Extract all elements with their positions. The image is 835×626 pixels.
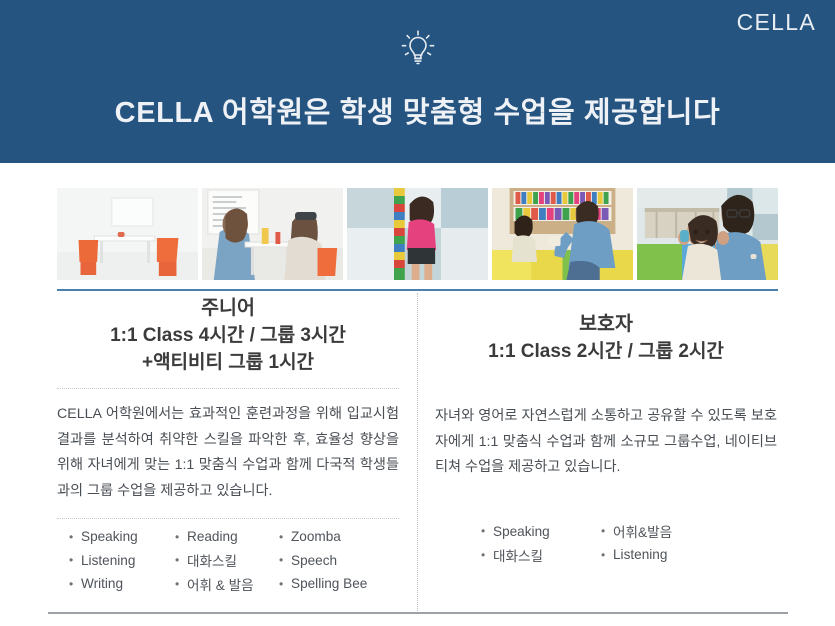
divider-dotted-junior-bottom xyxy=(57,518,399,519)
photo-teacher-toddler-library xyxy=(492,188,633,280)
list-item: • 대화스킬 xyxy=(175,549,279,573)
page-title: CELLA 어학원은 학생 맞춤형 수업을 제공합니다 xyxy=(0,89,835,131)
list-item-label: Spelling Bee xyxy=(291,576,367,591)
column-guardian-description: 자녀와 영어로 자연스럽게 소통하고 공유할 수 있도록 보호자에게 1:1 맞… xyxy=(435,404,777,481)
bullet-group-3: • Zoomba • Speech • Spelling Bee xyxy=(279,525,367,596)
bullet-marker-icon: • xyxy=(601,549,613,561)
bullet-marker-icon: • xyxy=(601,525,613,537)
bullet-marker-icon: • xyxy=(69,531,81,543)
bullet-marker-icon: • xyxy=(279,531,291,543)
list-item: • 어휘 & 발음 xyxy=(175,572,279,596)
photo-empty-classroom xyxy=(57,188,198,280)
column-junior-bullets: • Speaking • Listening • Writing • Readi… xyxy=(57,525,399,596)
bullet-marker-icon: • xyxy=(69,578,81,590)
divider-dotted-junior-top xyxy=(57,388,399,389)
list-item-label: Listening xyxy=(81,553,135,568)
list-item-label: Speech xyxy=(291,553,337,568)
column-guardian-title: 보호자 xyxy=(435,311,777,338)
list-item: • Zoomba xyxy=(279,525,367,549)
list-item: • Listening xyxy=(69,549,175,573)
list-item: • Speaking xyxy=(481,520,601,544)
list-item-label: Listening xyxy=(613,547,667,562)
bullet-group-1: • Speaking • Listening • Writing xyxy=(69,525,175,596)
bullet-marker-icon: • xyxy=(279,554,291,566)
list-item: • Listening xyxy=(601,543,672,567)
bullet-marker-icon: • xyxy=(175,554,187,566)
list-item: • 대화스킬 xyxy=(481,543,601,567)
bullet-group-2: • Reading • 대화스킬 • 어휘 & 발음 xyxy=(175,525,279,596)
list-item: • 어휘&발음 xyxy=(601,520,672,544)
list-item: • Writing xyxy=(69,572,175,596)
bullet-group-1: • Speaking • 대화스킬 xyxy=(481,520,601,567)
bullet-marker-icon: • xyxy=(481,549,493,561)
bullet-marker-icon: • xyxy=(481,525,493,537)
photo-strip xyxy=(57,188,778,280)
list-item-label: 대화스킬 xyxy=(187,550,237,570)
list-item: • Reading xyxy=(175,525,279,549)
list-item: • Spelling Bee xyxy=(279,572,367,596)
column-guardian-heading: 보호자 1:1 Class 2시간 / 그룹 2시간 xyxy=(435,295,777,365)
list-item-label: 어휘 & 발음 xyxy=(187,574,254,594)
bullet-marker-icon: • xyxy=(279,578,291,590)
column-junior-subtitle-1: 1:1 Class 4시간 / 그룹 3시간 xyxy=(57,322,399,349)
photo-teacher-student-desk xyxy=(202,188,343,280)
divider-blue-top xyxy=(57,289,778,291)
column-junior-title: 주니어 xyxy=(57,295,399,322)
lightbulb-icon xyxy=(0,25,835,73)
list-item-label: Speaking xyxy=(81,529,138,544)
bullet-marker-icon: • xyxy=(175,578,187,590)
list-item-label: Speaking xyxy=(493,524,550,539)
photo-teacher-girl-smiling xyxy=(637,188,778,280)
bullet-marker-icon: • xyxy=(175,531,187,543)
column-guardian: 보호자 1:1 Class 2시간 / 그룹 2시간 자녀와 영어로 자연스럽게… xyxy=(417,295,777,615)
column-junior-heading: 주니어 1:1 Class 4시간 / 그룹 3시간 +액티비티 그룹 1시간 xyxy=(57,295,399,376)
column-junior: 주니어 1:1 Class 4시간 / 그룹 3시간 +액티비티 그룹 1시간 … xyxy=(57,295,417,615)
divider-gray-bottom xyxy=(48,612,788,614)
bullet-marker-icon: • xyxy=(69,554,81,566)
list-item: • Speech xyxy=(279,549,367,573)
bullet-group-2: • 어휘&발음 • Listening xyxy=(601,520,672,567)
page-header: CELLA CELLA 어학원은 학생 맞춤형 수업을 제공합니다 xyxy=(0,0,835,163)
list-item-label: Reading xyxy=(187,529,238,544)
list-item-label: Writing xyxy=(81,576,123,591)
list-item-label: Zoomba xyxy=(291,529,341,544)
divider-vertical-dotted xyxy=(417,293,418,613)
list-item: • Speaking xyxy=(69,525,175,549)
photo-girl-with-block-tower xyxy=(347,188,488,280)
column-guardian-subtitle-1: 1:1 Class 2시간 / 그룹 2시간 xyxy=(435,338,777,365)
column-guardian-bullets: • Speaking • 대화스킬 • 어휘&발음 • Listening xyxy=(435,520,777,567)
list-item-label: 어휘&발음 xyxy=(613,521,672,541)
column-junior-description: CELLA 어학원에서는 효과적인 훈련과정을 위해 입교시험 결과를 분석하여… xyxy=(57,402,399,504)
list-item-label: 대화스킬 xyxy=(493,545,543,565)
column-junior-subtitle-2: +액티비티 그룹 1시간 xyxy=(57,349,399,376)
